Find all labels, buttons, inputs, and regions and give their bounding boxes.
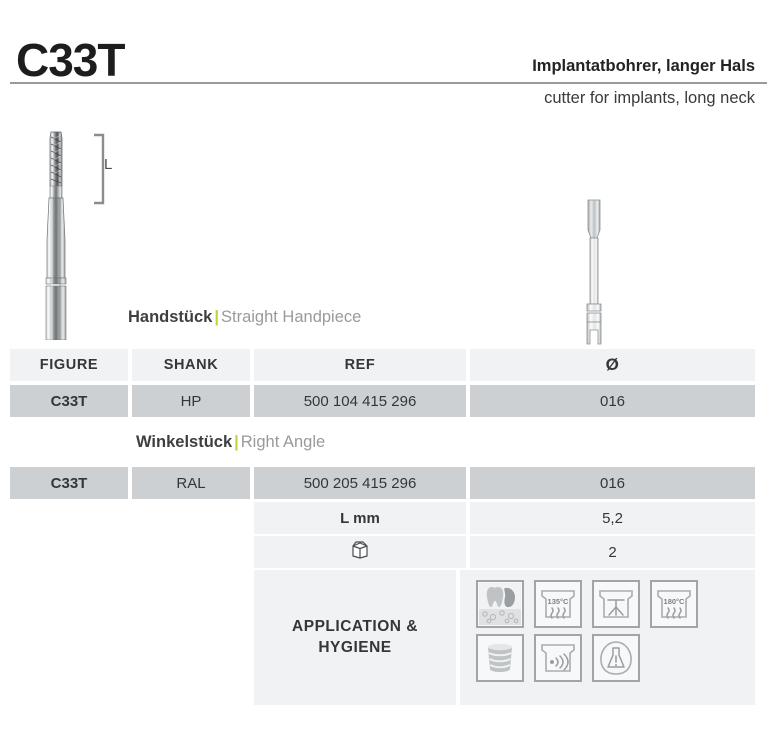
product-title-de: Implantatbohrer, langer Hals — [532, 57, 755, 76]
caption-en: Straight Handpiece — [221, 308, 361, 326]
ultrasonic-clean-icon — [534, 634, 582, 682]
sterilize-temp-135: 135°C — [548, 597, 570, 606]
cell-shank: RAL — [132, 467, 250, 499]
section-caption-right-angle: Winkelstück|Right Angle — [136, 433, 325, 452]
column-header-ref: REF — [254, 349, 466, 381]
chemical-disinfect-icon — [592, 634, 640, 682]
table-row: C33T HP 500 104 415 296 016 — [10, 385, 755, 417]
bur-illustration-hp — [34, 128, 90, 345]
application-label-line1: APPLICATION & — [292, 617, 418, 638]
caption-de: Handstück — [128, 308, 212, 326]
column-header-shank: SHANK — [132, 349, 250, 381]
cell-diameter: 016 — [470, 467, 755, 499]
header-divider — [10, 82, 767, 84]
tooth-bone-icon — [476, 580, 524, 628]
table-row: C33T RAL 500 205 415 296 016 — [10, 467, 755, 499]
hygiene-icon-row-1: 135°C — [476, 580, 755, 628]
spec-value-length: 5,2 — [470, 502, 755, 534]
hygiene-icon-row-2 — [476, 634, 755, 682]
steam-sterilize-135-icon: 135°C — [534, 580, 582, 628]
table-header-row: FIGURE SHANK REF Ø — [10, 349, 755, 381]
product-title-en: cutter for implants, long neck — [544, 89, 755, 108]
hygiene-icon-panel: 135°C — [460, 570, 755, 705]
thermo-disinfect-icon — [592, 580, 640, 628]
application-hygiene-label: APPLICATION & HYGIENE — [254, 570, 456, 705]
caption-de: Winkelstück — [136, 433, 232, 451]
bur-illustration-ral — [576, 198, 616, 351]
application-label-line2: HYGIENE — [292, 638, 418, 659]
caption-separator: | — [232, 433, 241, 451]
box-icon — [349, 539, 371, 565]
spec-row-quantity: 2 — [10, 536, 755, 568]
section-caption-handpiece: Handstück|Straight Handpiece — [128, 308, 361, 327]
steam-sterilize-180-icon: 180°C — [650, 580, 698, 628]
length-label: L — [104, 156, 112, 173]
spec-value-quantity: 2 — [470, 536, 755, 568]
cell-ref: 500 205 415 296 — [254, 467, 466, 499]
page-title: C33T — [16, 33, 124, 87]
cell-figure: C33T — [10, 385, 128, 417]
spec-row-length: L mm 5,2 — [10, 502, 755, 534]
spec-label-length: L mm — [254, 502, 466, 534]
product-sheet: C33T Implantatbohrer, langer Hals cutter… — [0, 0, 777, 742]
column-header-diameter: Ø — [470, 349, 755, 381]
caption-en: Right Angle — [241, 433, 325, 451]
cell-ref: 500 104 415 296 — [254, 385, 466, 417]
spec-label-quantity — [254, 536, 466, 568]
sterilize-temp-180: 180°C — [664, 597, 686, 606]
cell-shank: HP — [132, 385, 250, 417]
implant-screw-icon — [476, 634, 524, 682]
cell-diameter: 016 — [470, 385, 755, 417]
column-header-figure: FIGURE — [10, 349, 128, 381]
caption-separator: | — [212, 308, 221, 326]
cell-figure: C33T — [10, 467, 128, 499]
